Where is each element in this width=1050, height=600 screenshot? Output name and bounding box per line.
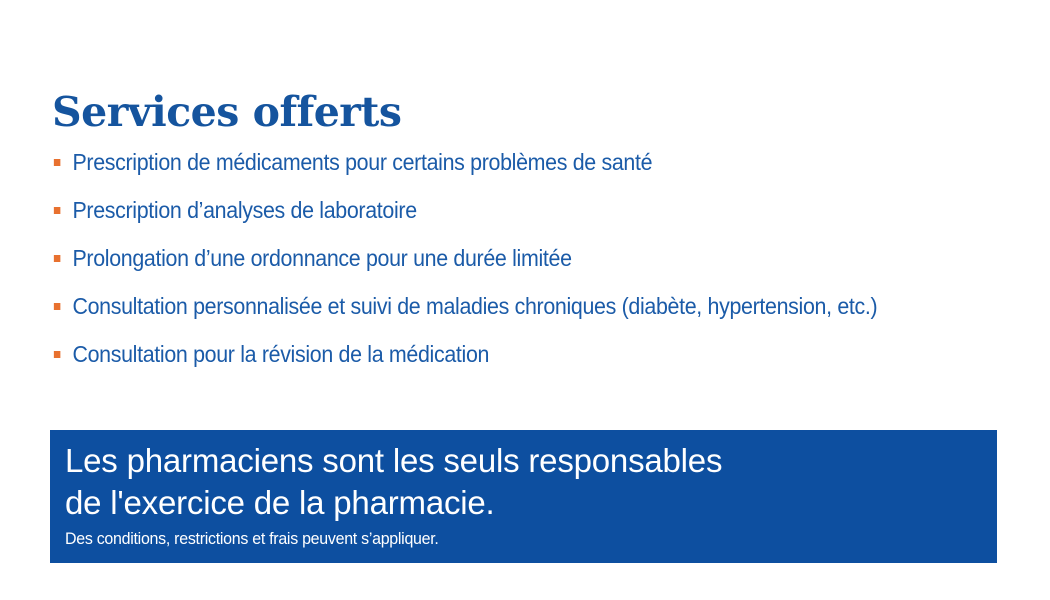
square-bullet-icon [54,159,61,166]
list-item-label: Prolongation d’une ordonnance pour une d… [72,234,571,282]
page-title: Services offerts [52,87,401,137]
list-item: Prescription d’analyses de laboratoire [52,186,963,234]
list-item: Consultation personnalisée et suivi de m… [52,282,963,330]
list-item: Prescription de médicaments pour certain… [52,138,963,186]
square-bullet-icon [54,207,61,214]
callout-banner: Les pharmaciens sont les seuls responsab… [50,430,997,563]
square-bullet-icon [54,255,61,262]
list-item: Consultation pour la révision de la médi… [52,330,963,378]
callout-note: Des conditions, restrictions et frais pe… [65,528,941,550]
list-item-label: Prescription d’analyses de laboratoire [72,186,416,234]
list-item-label: Prescription de médicaments pour certain… [72,138,652,186]
callout-headline-line-1: Les pharmaciens sont les seuls responsab… [65,440,997,482]
list-item-label: Consultation pour la révision de la médi… [72,330,489,378]
list-item: Prolongation d’une ordonnance pour une d… [52,234,963,282]
square-bullet-icon [54,303,61,310]
callout-headline: Les pharmaciens sont les seuls responsab… [65,440,997,524]
slide-canvas: Services offerts Prescription de médicam… [0,0,1050,600]
list-item-label: Consultation personnalisée et suivi de m… [72,282,877,330]
services-bullet-list: Prescription de médicaments pour certain… [52,138,1032,378]
square-bullet-icon [54,351,61,358]
callout-headline-line-2: de l'exercice de la pharmacie. [65,482,997,524]
